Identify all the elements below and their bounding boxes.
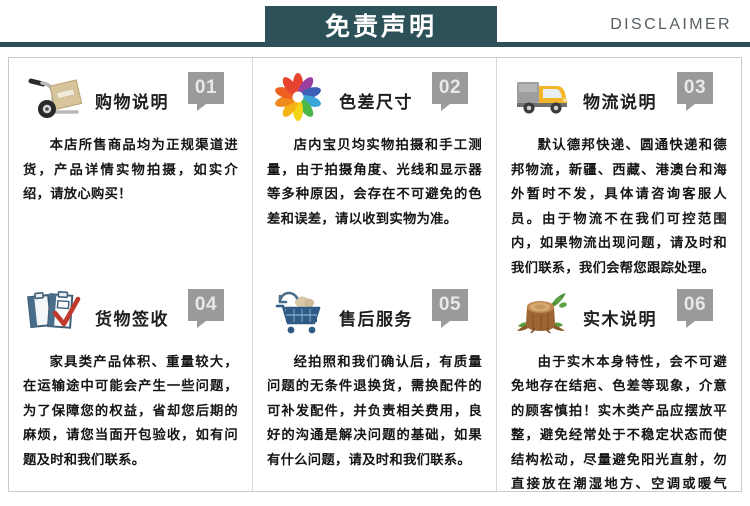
cell-header: 实木说明 06 [511, 289, 727, 343]
page-subtitle: DISCLAIMER [610, 16, 732, 34]
disclaimer-cell-03: 物流说明 03 默认德邦快递、圆通快递和德邦物流，新疆、西藏、港澳台和海外暂时不… [497, 58, 741, 275]
disclaimer-page: 免责声明 DISCLAIMER [0, 0, 750, 506]
disclaimer-grid: 购物说明 01 本店所售商品均为正规渠道进货，产品详情实物拍摄，如实介绍，请放心… [9, 58, 741, 491]
cell-header: 货物签收 04 [23, 289, 238, 343]
status-badge: 01 [188, 72, 224, 104]
cell-title: 实木说明 [583, 305, 657, 330]
status-badge: 06 [677, 289, 713, 321]
cell-title: 购物说明 [95, 88, 169, 113]
cell-title: 色差尺寸 [339, 88, 413, 113]
cell-header: 售后服务 05 [267, 289, 482, 343]
color-wheel-icon [269, 72, 329, 122]
disclaimer-cell-02: 色差尺寸 02 店内宝贝均实物拍摄和手工测量，由于拍摄角度、光线和显示器等多种原… [253, 58, 497, 275]
status-badge: 05 [432, 289, 468, 321]
cell-title: 物流说明 [583, 88, 657, 113]
badge-number: 02 [439, 77, 461, 99]
delivery-truck-icon [513, 72, 573, 122]
shopping-cart-icon [269, 289, 329, 339]
cell-body-text: 默认德邦快递、圆通快递和德邦物流，新疆、西藏、港澳台和海外暂时不发，具体请咨询客… [511, 134, 727, 275]
badge-number: 05 [439, 294, 461, 316]
badge-number: 01 [195, 77, 217, 99]
cell-body-text: 本店所售商品均为正规渠道进货，产品详情实物拍摄，如实介绍，请放心购买！ [23, 134, 238, 208]
cell-header: 物流说明 03 [511, 72, 727, 126]
cell-title: 货物签收 [95, 305, 169, 330]
page-header: 免责声明 DISCLAIMER [0, 0, 750, 47]
tree-stump-icon [513, 289, 573, 339]
disclaimer-cell-06: 实木说明 06 由于实木本身特性，会不可避免地存在结疤、色差等现象，介意的顾客慎… [497, 275, 741, 492]
cell-title: 售后服务 [339, 305, 413, 330]
cell-body-text: 家具类产品体积、重量较大，在运输途中可能会产生一些问题，为了保障您的权益，省却您… [23, 351, 238, 474]
cell-body-text: 经拍照和我们确认后，有质量问题的无条件退换货，需换配件的可补发配件，并负责相关费… [267, 351, 482, 474]
status-badge: 03 [677, 72, 713, 104]
page-title: 免责声明 [325, 14, 437, 39]
clipboard-check-icon [25, 289, 85, 339]
disclaimer-cell-04: 货物签收 04 家具类产品体积、重量较大，在运输途中可能会产生一些问题，为了保障… [9, 275, 253, 492]
cell-header: 购物说明 01 [23, 72, 238, 126]
disclaimer-grid-container: 购物说明 01 本店所售商品均为正规渠道进货，产品详情实物拍摄，如实介绍，请放心… [8, 57, 742, 492]
cell-body-text: 由于实木本身特性，会不可避免地存在结疤、色差等现象，介意的顾客慎拍！实木类产品应… [511, 351, 727, 492]
header-title-tab: 免责声明 [265, 6, 497, 46]
hand-truck-icon [25, 72, 85, 122]
badge-number: 06 [684, 294, 706, 316]
badge-number: 04 [195, 294, 217, 316]
status-badge: 04 [188, 289, 224, 321]
status-badge: 02 [432, 72, 468, 104]
badge-number: 03 [684, 77, 706, 99]
cell-body-text: 店内宝贝均实物拍摄和手工测量，由于拍摄角度、光线和显示器等多种原因，会存在不可避… [267, 134, 482, 232]
disclaimer-cell-05: 售后服务 05 经拍照和我们确认后，有质量问题的无条件退换货，需换配件的可补发配… [253, 275, 497, 492]
cell-header: 色差尺寸 02 [267, 72, 482, 126]
disclaimer-cell-01: 购物说明 01 本店所售商品均为正规渠道进货，产品详情实物拍摄，如实介绍，请放心… [9, 58, 253, 275]
